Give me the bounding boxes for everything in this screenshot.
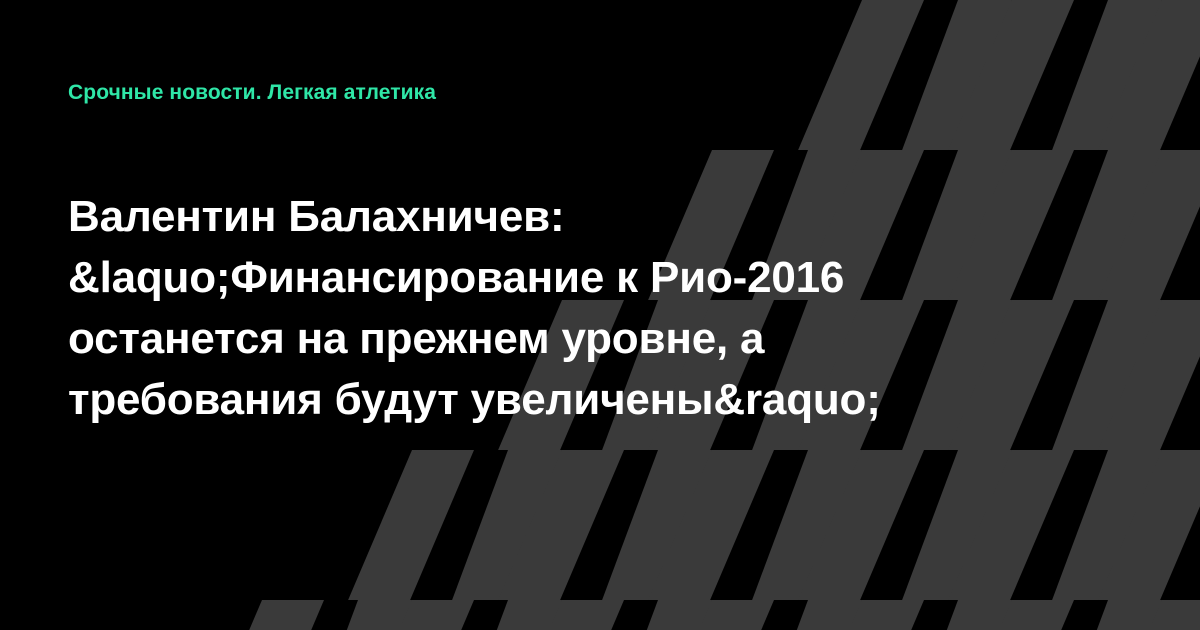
headline-line: требования будут увеличены&raquo; [68, 369, 1078, 430]
headline-line: &laquo;Финансирование к Рио-2016 [68, 247, 1078, 308]
kicker-category-label: Срочные новости. Легкая атлетика [68, 80, 436, 106]
page-title: Валентин Балахничев: &laquo;Финансирован… [68, 186, 1078, 430]
headline-line: Валентин Балахничев: [68, 186, 1078, 247]
social-share-card: Срочные новости. Легкая атлетика Валенти… [0, 0, 1200, 630]
headline-line: останется на прежнем уровне, а [68, 308, 1078, 369]
